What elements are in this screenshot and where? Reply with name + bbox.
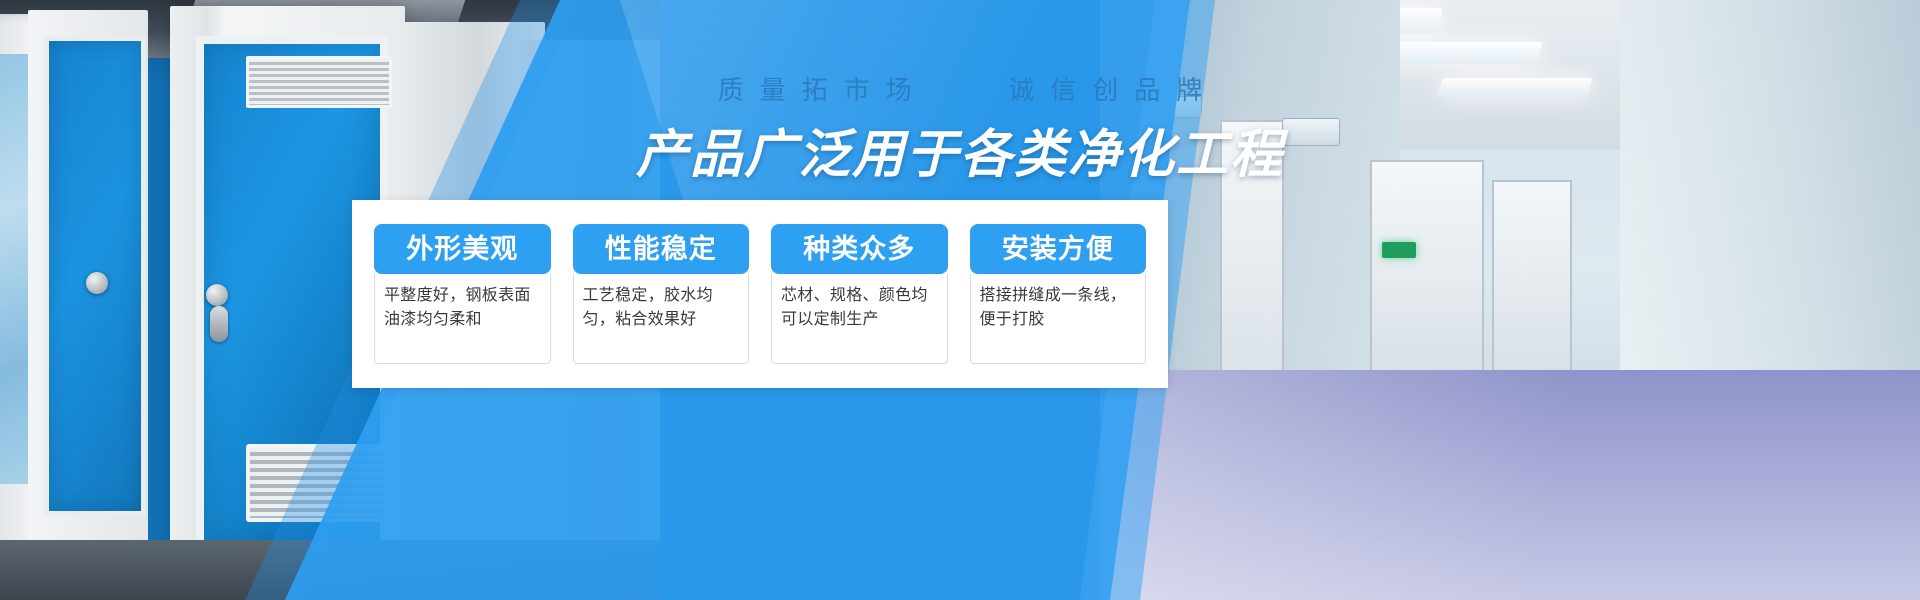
feature-card: 种类众多 芯材、规格、颜色均可以定制生产 bbox=[771, 224, 948, 364]
banner-tagline: 质量拓市场 诚信创品牌 bbox=[0, 70, 1920, 107]
feature-card-title: 安装方便 bbox=[970, 224, 1147, 274]
feature-card-description: 平整度好，钢板表面油漆均匀柔和 bbox=[374, 274, 551, 364]
feature-panel: 外形美观 平整度好，钢板表面油漆均匀柔和 性能稳定 工艺稳定，胶水均匀，粘合效果… bbox=[352, 200, 1168, 388]
banner-headline: 产品广泛用于各类净化工程 bbox=[0, 112, 1920, 187]
feature-card: 外形美观 平整度好，钢板表面油漆均匀柔和 bbox=[374, 224, 551, 364]
feature-card-description: 工艺稳定，胶水均匀，粘合效果好 bbox=[573, 274, 750, 364]
feature-card-list: 外形美观 平整度好，钢板表面油漆均匀柔和 性能稳定 工艺稳定，胶水均匀，粘合效果… bbox=[352, 200, 1168, 388]
tagline-right-text: 诚信创品牌 bbox=[1008, 75, 1218, 105]
feature-card-description: 搭接拼缝成一条线，便于打胶 bbox=[970, 274, 1147, 364]
feature-card-title: 外形美观 bbox=[374, 224, 551, 274]
feature-card-title: 种类众多 bbox=[771, 224, 948, 274]
feature-card: 安装方便 搭接拼缝成一条线，便于打胶 bbox=[970, 224, 1147, 364]
tagline-left-text: 质量拓市场 bbox=[718, 75, 928, 105]
feature-card: 性能稳定 工艺稳定，胶水均匀，粘合效果好 bbox=[573, 224, 750, 364]
promo-banner: 质量拓市场 诚信创品牌 产品广泛用于各类净化工程 外形美观 平整度好，钢板表面油… bbox=[0, 0, 1920, 600]
feature-card-title: 性能稳定 bbox=[573, 224, 750, 274]
feature-card-description: 芯材、规格、颜色均可以定制生产 bbox=[771, 274, 948, 364]
